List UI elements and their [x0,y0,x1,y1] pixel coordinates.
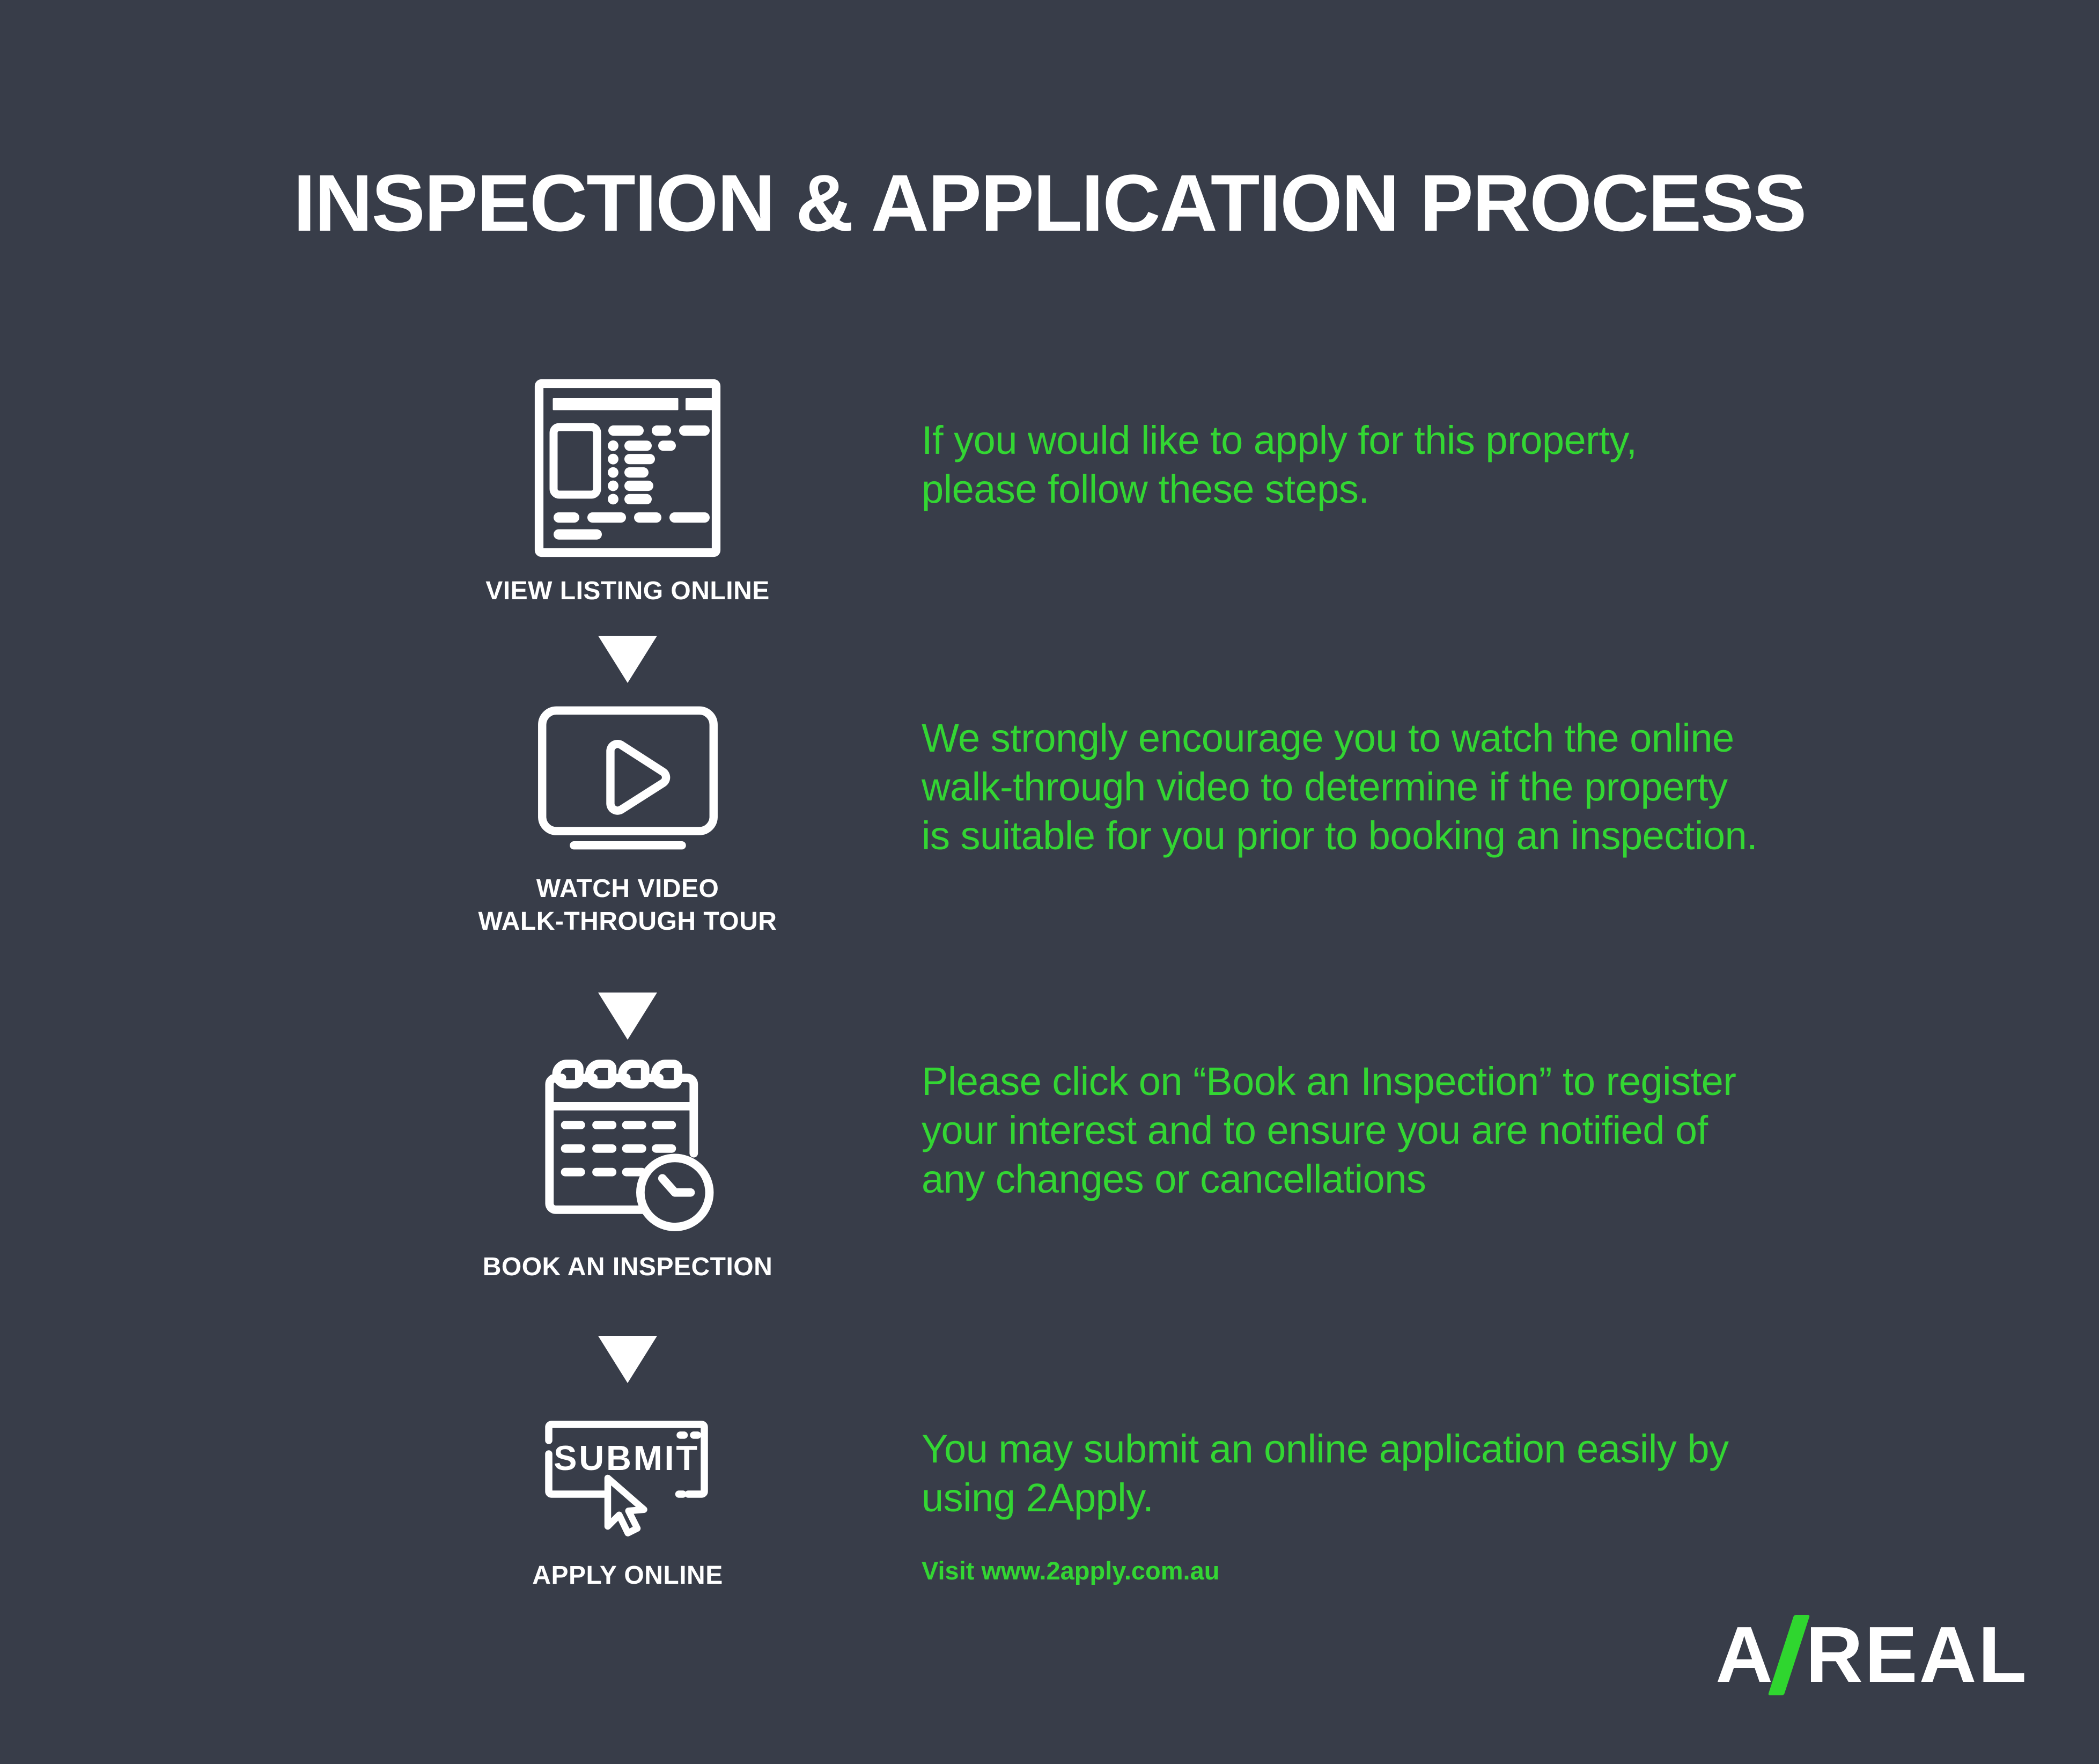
calendar-clock-icon [535,1054,720,1237]
connector-arrow-1 [343,636,912,686]
video-play-monitor-icon [533,697,723,858]
connector-arrow-3 [343,1336,912,1386]
submit-button-cursor-icon: SUBMIT [527,1411,728,1545]
connector-arrow-2 [343,993,912,1042]
copy-step-3: Please click on “Book an Inspection” to … [922,1057,1973,1203]
visit-link[interactable]: Visit www.2apply.com.au [922,1556,1219,1585]
step-label: APPLY ONLINE [343,1559,912,1592]
submit-icon-label: SUBMIT [554,1438,699,1478]
step-label: BOOK AN INSPECTION [343,1251,912,1283]
infographic-canvas: INSPECTION & APPLICATION PROCESS [0,0,2099,1764]
copy-step-1: If you would like to apply for this prop… [922,416,1973,513]
logo-letter-a: A [1715,1615,1774,1695]
logo-word-real: REAL [1806,1615,2028,1695]
triangle-down-icon [598,993,657,1040]
step-apply-online: SUBMIT APPLY ONLINE [343,1411,912,1592]
copy-step-4: You may submit an online application eas… [922,1424,1973,1522]
triangle-down-icon [598,636,657,683]
browser-listing-icon [531,376,724,561]
step-label: WATCH VIDEO WALK-THROUGH TOUR [343,872,912,938]
step-book-inspection: BOOK AN INSPECTION [343,1054,912,1283]
page-title: INSPECTION & APPLICATION PROCESS [0,161,2099,246]
copy-step-2: We strongly encourage you to watch the o… [922,714,1973,860]
step-view-listing-online: VIEW LISTING ONLINE [343,376,912,607]
brand-logo: A REAL [1715,1615,2028,1695]
triangle-down-icon [598,1336,657,1383]
step-label: VIEW LISTING ONLINE [343,575,912,607]
step-watch-video: WATCH VIDEO WALK-THROUGH TOUR [343,697,912,938]
